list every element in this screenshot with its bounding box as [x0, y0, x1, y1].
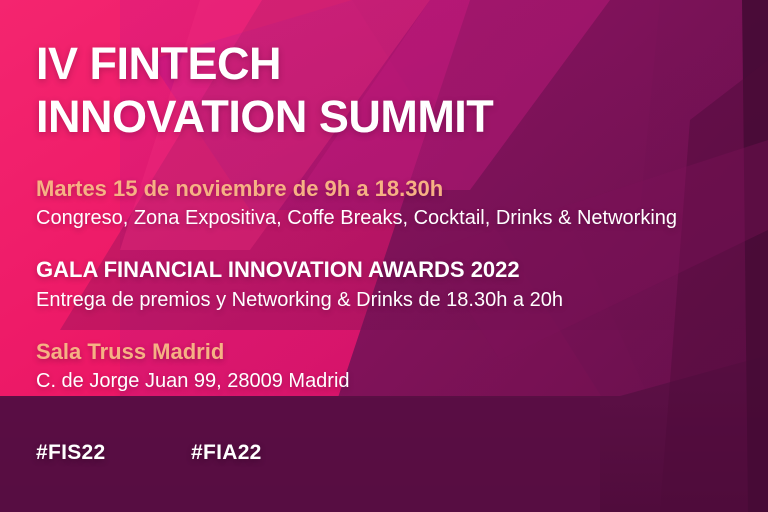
venue-address: C. de Jorge Juan 99, 28009 Madrid — [36, 368, 768, 394]
banner-content: IV FINTECH INNOVATION SUMMIT Martes 15 d… — [0, 0, 768, 512]
hashtag-fis22: #FIS22 — [36, 441, 191, 465]
gala-heading: GALA FINANCIAL INNOVATION AWARDS 2022 — [36, 256, 768, 284]
title-line-1: IV FINTECH — [36, 38, 768, 91]
page-title: IV FINTECH INNOVATION SUMMIT — [36, 38, 768, 143]
hashtag-fia22: #FIA22 — [191, 441, 262, 465]
hashtag-row: #FIS22 #FIA22 — [36, 441, 768, 465]
date-subline: Congreso, Zona Expositiva, Coffe Breaks,… — [36, 205, 768, 231]
info-block-gala: GALA FINANCIAL INNOVATION AWARDS 2022 En… — [36, 256, 768, 312]
event-banner: ? 2 — [0, 0, 768, 512]
gala-subline: Entrega de premios y Networking & Drinks… — [36, 287, 768, 313]
info-block-venue: Sala Truss Madrid C. de Jorge Juan 99, 2… — [36, 338, 768, 394]
venue-heading: Sala Truss Madrid — [36, 338, 768, 366]
title-line-2: INNOVATION SUMMIT — [36, 91, 768, 144]
date-heading: Martes 15 de noviembre de 9h a 18.30h — [36, 175, 768, 203]
info-block-date: Martes 15 de noviembre de 9h a 18.30h Co… — [36, 175, 768, 231]
